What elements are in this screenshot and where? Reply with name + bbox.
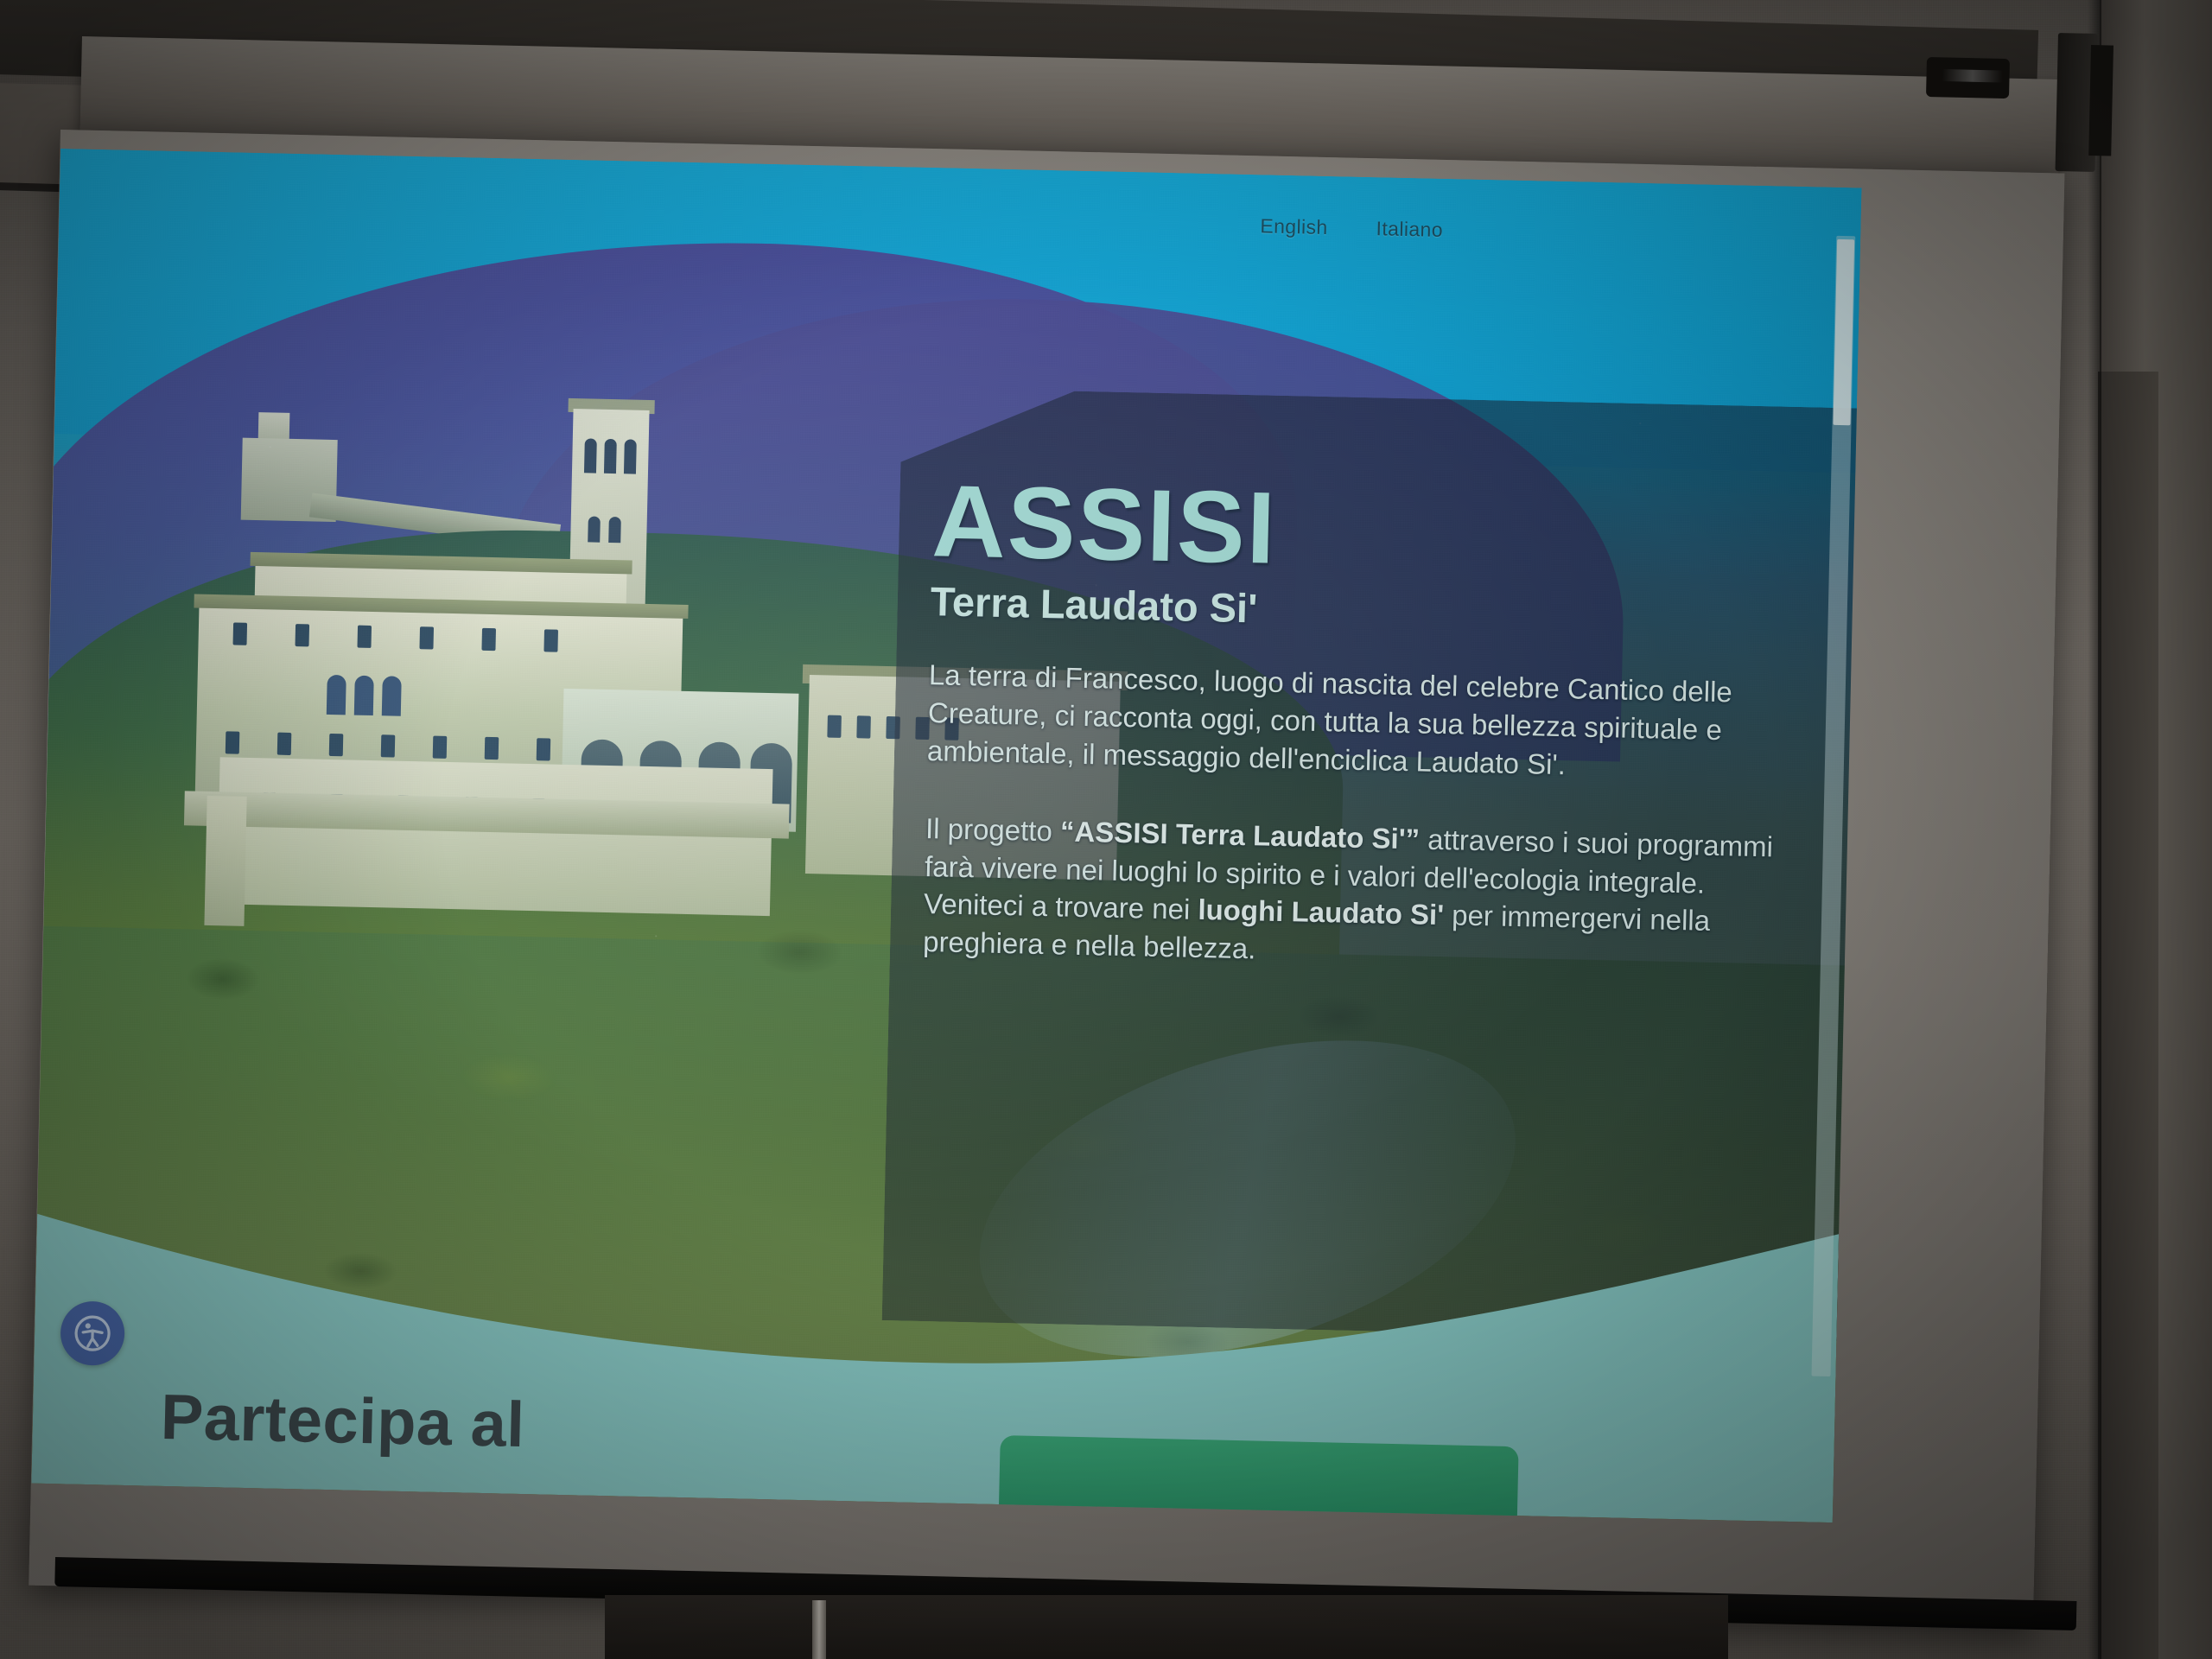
roller-mount-bracket-inner (2088, 45, 2113, 156)
window (537, 738, 551, 760)
footer-content: Partecipa al (31, 1268, 1837, 1522)
hero-paragraph-2: Il progetto “ASSISI Terra Laudato Si'” a… (923, 810, 1790, 980)
window-large (327, 675, 346, 715)
furniture-highlight (812, 1600, 826, 1659)
window (433, 736, 448, 759)
window (381, 734, 396, 757)
accessibility-glyph (73, 1313, 113, 1354)
bell-tower-window (624, 439, 637, 474)
bell-tower-window (588, 516, 601, 542)
projected-webpage: English Italiano ASSISI Terra Laudato Si… (31, 149, 1861, 1522)
right-wall-panel (2098, 372, 2158, 1659)
window (329, 734, 344, 756)
hero-paragraph-1: La terra di Francesco, luogo di nascita … (927, 656, 1794, 788)
bell-tower-window (604, 439, 617, 474)
hero-text-block: ASSISI Terra Laudato Si' La terra di Fra… (923, 470, 1797, 980)
lang-link-italiano[interactable]: Italiano (1376, 217, 1443, 242)
footer-heading: Partecipa al (160, 1380, 525, 1461)
window-large (354, 676, 374, 715)
window-row-large (327, 675, 402, 716)
para2-project-name: “ASSISI Terra Laudato Si'” (1060, 815, 1421, 855)
window (226, 731, 240, 753)
window-row (233, 622, 558, 652)
lang-link-english[interactable]: English (1260, 214, 1328, 239)
window (543, 629, 558, 652)
window (277, 733, 292, 755)
window (357, 626, 372, 648)
right-wall-shadow (2088, 0, 2101, 1659)
window (856, 715, 871, 738)
window (485, 737, 499, 760)
furniture-below-screen (605, 1595, 1728, 1659)
window (481, 628, 496, 651)
window-large (382, 676, 402, 715)
accessibility-person-icon[interactable] (60, 1300, 125, 1366)
window (827, 715, 842, 738)
para2-segment-1: Il progetto (925, 812, 1061, 847)
window (233, 622, 248, 645)
bell-tower-window (584, 438, 597, 473)
para2-luoghi-highlight: luoghi Laudato Si' (1198, 893, 1444, 931)
room-scene: English Italiano ASSISI Terra Laudato Si… (0, 0, 2212, 1659)
language-nav: English Italiano (1260, 214, 1443, 242)
window (295, 624, 309, 646)
page-title: ASSISI (931, 470, 1797, 591)
roller-label-text (1942, 69, 2003, 83)
window (419, 626, 434, 649)
window-row (226, 731, 550, 760)
bell-tower-window (608, 517, 621, 543)
